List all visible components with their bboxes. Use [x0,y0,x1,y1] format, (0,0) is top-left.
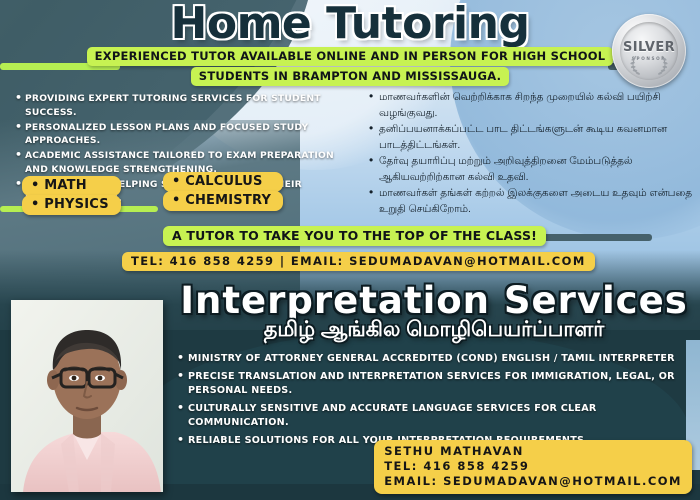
list-item: PERSONALIZED LESSON PLANS AND FOCUSED ST… [14,121,359,148]
subject-tag-calculus: • CALCULUS [163,172,283,192]
subject-tag-group-right: • CALCULUS • CHEMISTRY [163,172,283,211]
silver-sponsor-badge: SILVER SPONSOR [612,14,686,88]
contact-email: EMAIL: SEDUMADAVAN@HOTMAIL.COM [384,474,682,489]
badge-tier-label: SILVER [623,41,675,54]
tutoring-contact-bar: TEL: 416 858 4259 | EMAIL: SEDUMADAVAN@H… [122,252,595,271]
subject-tag-physics: • PHYSICS [22,195,121,215]
subject-tag-math: • MATH [22,176,121,196]
section-title-interpretation: Interpretation Services [170,279,698,322]
headline-banner: EXPERIENCED TUTOR AVAILABLE ONLINE AND I… [0,47,700,87]
badge-sponsor-label: SPONSOR [632,56,666,61]
subject-tag-chemistry: • CHEMISTRY [163,191,283,211]
section-subtitle-tamil: தமிழ் ஆங்கில மொழிபெயர்ப்பாளர் [170,318,698,344]
list-item: மாணவர்களின் வெற்றிக்காக சிறந்த முறையில் … [368,90,694,121]
avatar [11,300,163,492]
list-item: மாணவர்கள் தங்கள் கற்றல் இலக்குகளை அடைய உ… [368,186,694,217]
interpretation-feature-list: MINISTRY OF ATTORNEY GENERAL ACCREDITED … [176,352,698,452]
contact-name: SETHU MATHAVAN [384,444,682,459]
list-item: MINISTRY OF ATTORNEY GENERAL ACCREDITED … [176,352,698,367]
list-item: தேர்வு தயாரிப்பு மற்றும் அறிவுத்திறனை மே… [368,154,694,185]
footer-contact-card: SETHU MATHAVAN TEL: 416 858 4259 EMAIL: … [374,440,692,494]
list-item: PRECISE TRANSLATION AND INTERPRETATION S… [176,370,698,399]
page-title: Home Tutoring [0,0,700,49]
list-item: தனிப்பயனாக்கப்பட்ட பாட திட்டங்களுடன் கூட… [368,122,694,153]
silver-sponsor-badge-inner: SILVER SPONSOR [620,22,678,80]
list-item: CULTURALLY SENSITIVE AND ACCURATE LANGUA… [176,402,698,431]
headline-banner-line-1: EXPERIENCED TUTOR AVAILABLE ONLINE AND I… [87,47,614,66]
tamil-feature-list: மாணவர்களின் வெற்றிக்காக சிறந்த முறையில் … [368,90,694,218]
subject-tag-group-left: • MATH • PHYSICS [22,176,121,215]
poster-canvas: Home Tutoring EXPERIENCED TUTOR AVAILABL… [0,0,700,500]
list-item: PROVIDING EXPERT TUTORING SERVICES FOR S… [14,92,359,119]
contact-phone: TEL: 416 858 4259 [384,459,682,474]
portrait-photo-icon [11,300,163,492]
tutoring-tagline: A TUTOR TO TAKE YOU TO THE TOP OF THE CL… [163,226,546,246]
headline-banner-line-2: STUDENTS IN BRAMPTON AND MISSISSAUGA. [191,67,509,86]
